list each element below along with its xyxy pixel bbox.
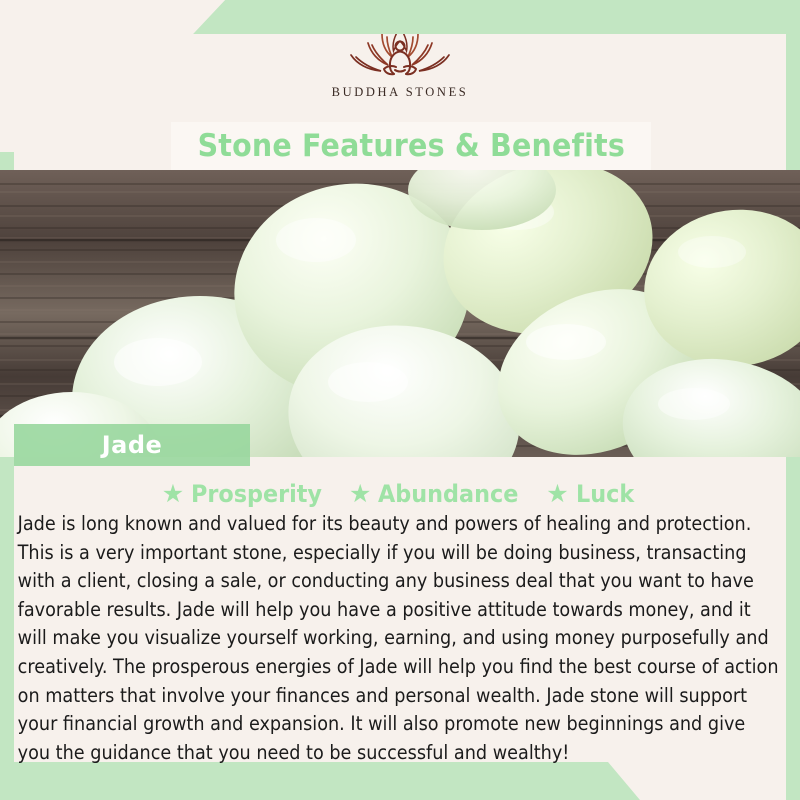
stone-name-label: Jade [14, 424, 250, 466]
star-icon: ★ [162, 482, 184, 507]
benefit-label: Prosperity [191, 480, 322, 508]
benefit-item-abundance: ★ Abundance [349, 480, 529, 508]
benefit-label: Abundance [378, 480, 518, 508]
stone-photo [0, 170, 800, 457]
infographic-card: BUDDHA STONES [0, 0, 800, 800]
benefit-item-luck: ★ Luck [546, 480, 638, 508]
stone-name-text: Jade [102, 431, 163, 459]
star-icon: ★ [546, 482, 568, 507]
title-banner: Stone Features & Benefits [171, 122, 651, 170]
frame-bottom-band [0, 762, 640, 800]
benefit-item-prosperity: ★ Prosperity [162, 480, 332, 508]
stone-description: Jade is long known and valued for its be… [14, 510, 785, 762]
page-title: Stone Features & Benefits [197, 128, 624, 164]
benefits-row: ★ Prosperity ★ Abundance ★ Luck [14, 478, 786, 510]
benefit-label: Luck [576, 480, 634, 508]
brand-wordmark: BUDDHA STONES [332, 85, 469, 100]
star-icon: ★ [349, 482, 371, 507]
